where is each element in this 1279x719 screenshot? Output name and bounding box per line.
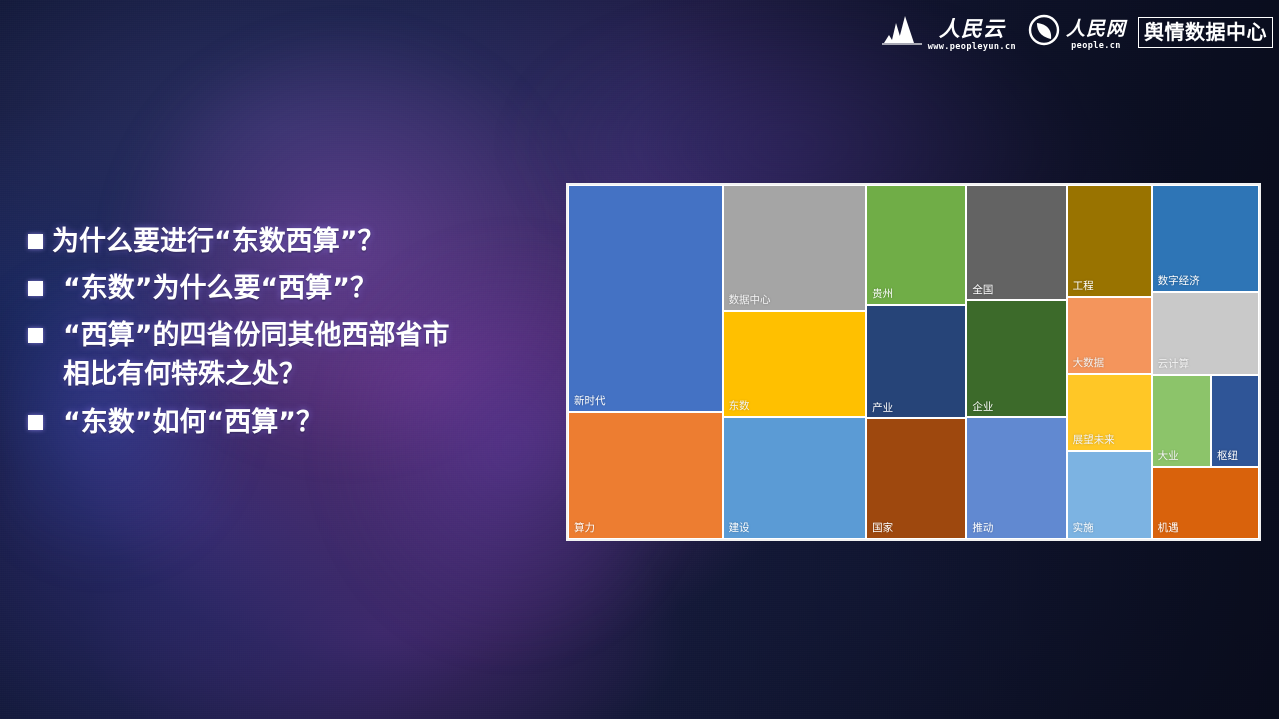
treemap-tile-label: 推动 [972,522,993,535]
bullet-square-icon [28,328,43,343]
treemap-tile[interactable]: 云计算 [1152,292,1259,375]
treemap-tile-label: 工程 [1073,280,1094,293]
department-badge: 舆情数据中心 [1138,17,1273,48]
bullet-square-icon [28,281,43,296]
bullet-square-icon [28,234,43,249]
treemap-tile[interactable]: 全国 [966,185,1066,300]
treemap-tile-label: 企业 [972,401,993,414]
treemap-tile[interactable]: 建设 [723,417,867,539]
treemap-tile[interactable]: 大数据 [1067,297,1152,374]
treemap-tile-label: 产业 [872,402,893,415]
people-cn-circle-icon [1028,14,1060,51]
peopleyun-logo: 人民云 www.peopleyun.cn [882,13,1016,52]
bullet-square-icon [28,415,43,430]
treemap-tile[interactable]: 新时代 [568,185,723,412]
bullet-item: “东数”为什么要“西算”？ [28,269,548,308]
bullet-item: “东数”如何“西算”？ [28,403,548,442]
bullet-text: “西算”的四省份同其他西部省市 相比有何特殊之处？ [63,316,450,394]
treemap-tile-label: 数字经济 [1158,275,1200,288]
bullet-item: 为什么要进行“东数西算”？ [28,222,548,261]
treemap-tile-label: 东数 [729,400,750,413]
treemap-tile-label: 贵州 [872,288,893,301]
treemap-chart: 新时代算力数据中心东数建设贵州产业国家全国企业推动工程大数据展望未来实施数字经济… [566,183,1261,541]
peopleyun-mountain-icon [882,13,922,52]
treemap-tile[interactable]: 国家 [866,418,966,539]
treemap-tile[interactable]: 机遇 [1152,467,1259,539]
bullet-text: 为什么要进行“东数西算”？ [52,222,385,261]
slide-canvas: 人民云 www.peopleyun.cn 人民网 people.cn 舆情数据中… [0,0,1279,719]
treemap-tile[interactable]: 数据中心 [723,185,867,311]
bullet-list: 为什么要进行“东数西算”？“东数”为什么要“西算”？“西算”的四省份同其他西部省… [28,222,548,450]
bullet-text: “东数”为什么要“西算”？ [63,269,377,308]
treemap-tile[interactable]: 东数 [723,311,867,417]
people-cn-url-text: people.cn [1071,42,1121,51]
people-cn-cn-text: 人民网 [1066,20,1126,39]
treemap-tile[interactable]: 枢纽 [1211,375,1259,467]
treemap-tile-label: 枢纽 [1217,450,1238,463]
bullet-item: “西算”的四省份同其他西部省市 相比有何特殊之处？ [28,316,548,394]
treemap-plot-area: 新时代算力数据中心东数建设贵州产业国家全国企业推动工程大数据展望未来实施数字经济… [568,185,1259,539]
peopleyun-url-text: www.peopleyun.cn [928,43,1016,52]
treemap-tile[interactable]: 推动 [966,417,1066,539]
treemap-tile-label: 数据中心 [729,294,771,307]
treemap-tile-label: 实施 [1073,522,1094,535]
treemap-tile-label: 国家 [872,522,893,535]
treemap-tile[interactable]: 展望未来 [1067,374,1152,451]
treemap-tile-label: 建设 [729,522,750,535]
peopleyun-cn-text: 人民云 [939,19,1005,40]
treemap-tile-label: 算力 [574,522,595,535]
treemap-tile-label: 新时代 [574,395,606,408]
peopleyun-wordmark: 人民云 www.peopleyun.cn [928,19,1016,52]
treemap-tile[interactable]: 企业 [966,300,1066,417]
bullet-text: “东数”如何“西算”？ [63,403,323,442]
treemap-tile-label: 机遇 [1158,522,1179,535]
treemap-tile[interactable]: 实施 [1067,451,1152,539]
treemap-tile[interactable]: 数字经济 [1152,185,1259,292]
treemap-tile[interactable]: 贵州 [866,185,966,305]
treemap-tile-label: 大业 [1158,450,1179,463]
treemap-tile[interactable]: 工程 [1067,185,1152,297]
header-logo-bar: 人民云 www.peopleyun.cn 人民网 people.cn 舆情数据中… [882,10,1273,54]
treemap-tile[interactable]: 算力 [568,412,723,539]
treemap-tile[interactable]: 产业 [866,305,966,418]
people-cn-wordmark: 人民网 people.cn [1066,20,1126,51]
treemap-tile[interactable]: 大业 [1152,375,1211,467]
treemap-tile-label: 全国 [972,284,993,297]
treemap-tile-label: 大数据 [1073,357,1105,370]
people-cn-logo: 人民网 people.cn [1028,14,1126,51]
treemap-tile-label: 云计算 [1158,358,1190,371]
treemap-tile-label: 展望未来 [1073,434,1115,447]
